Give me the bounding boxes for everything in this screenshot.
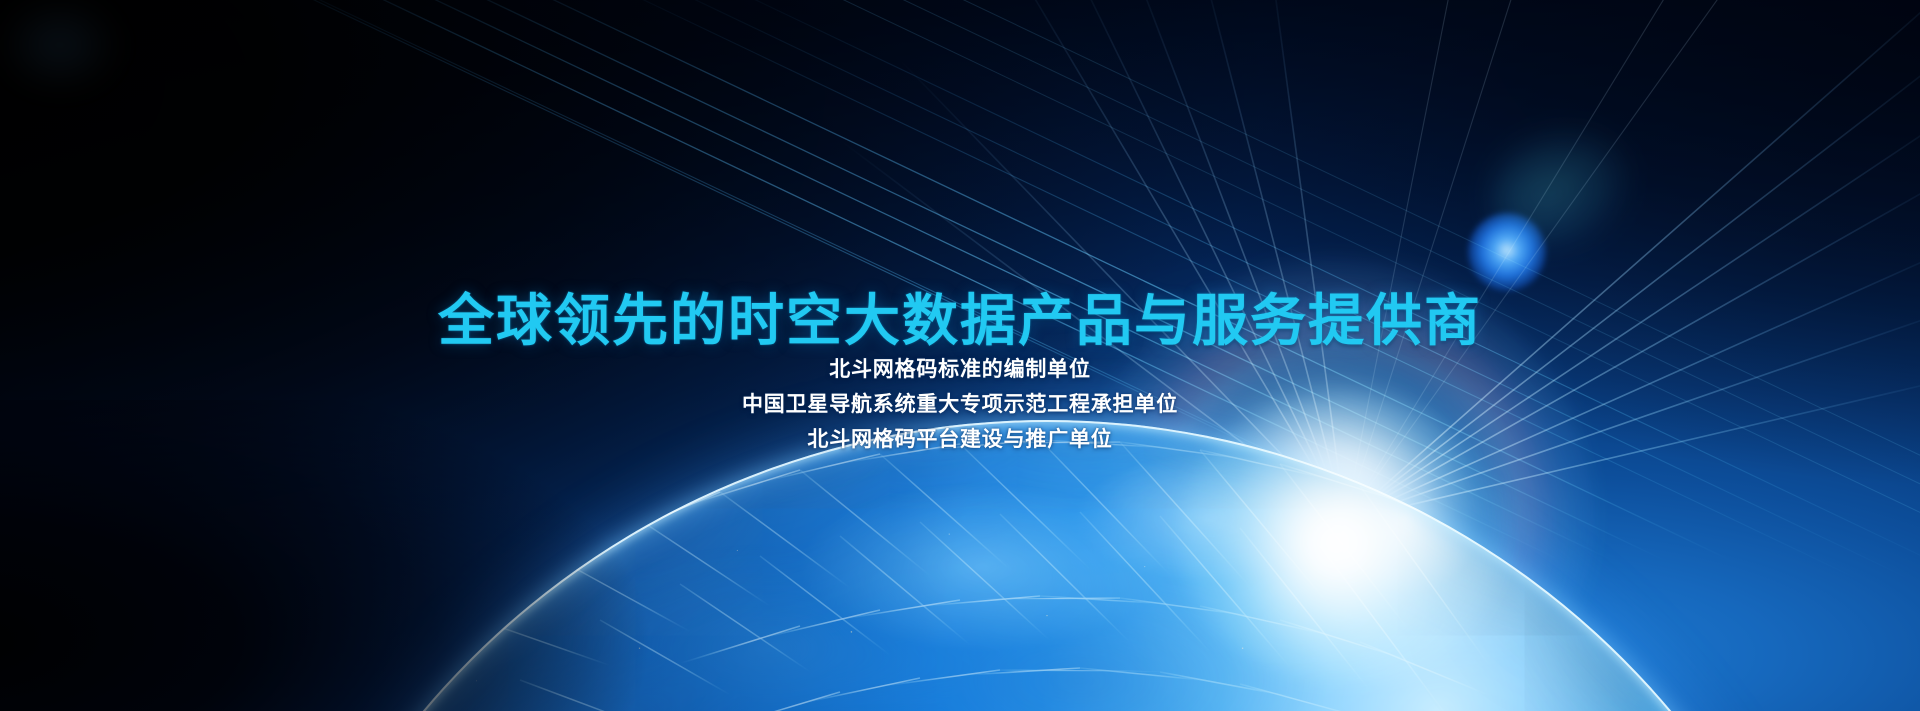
subtitle-line-1: 北斗网格码标准的编制单位 — [0, 352, 1920, 387]
subtitle-list: 北斗网格码标准的编制单位 中国卫星导航系统重大专项示范工程承担单位 北斗网格码平… — [0, 352, 1920, 457]
subtitle-line-2: 中国卫星导航系统重大专项示范工程承担单位 — [0, 387, 1920, 422]
subtitle-line-3: 北斗网格码平台建设与推广单位 — [0, 422, 1920, 457]
page-title: 全球领先的时空大数据产品与服务提供商 — [0, 286, 1920, 356]
hero-banner: 全球领先的时空大数据产品与服务提供商 北斗网格码标准的编制单位 中国卫星导航系统… — [0, 0, 1920, 711]
